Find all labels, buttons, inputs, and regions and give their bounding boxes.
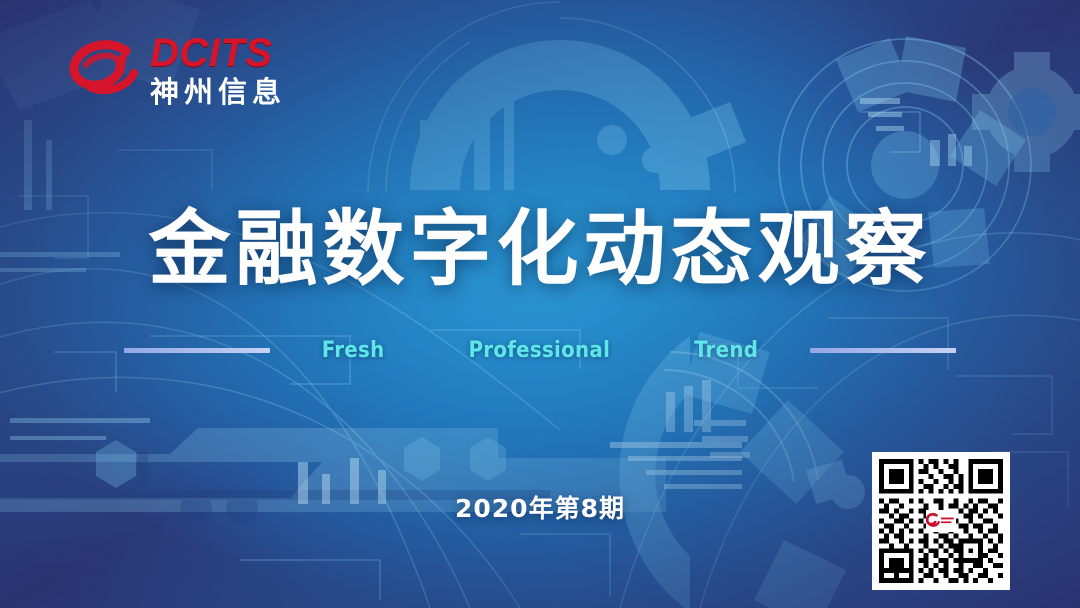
tagline-word-fresh: Fresh (322, 338, 385, 363)
qr-center-logo (926, 510, 956, 532)
dcits-swirl-logo-icon (66, 37, 140, 103)
tagline-row: Fresh Professional Trend (0, 338, 1080, 363)
tagline-words: Fresh Professional Trend (322, 338, 758, 363)
tagline-word-professional: Professional (468, 338, 610, 363)
tagline-rule-right (810, 348, 956, 353)
page-title: 金融数字化动态观察 (0, 182, 1080, 301)
brand-name-en: DCITS (150, 33, 286, 73)
brand-logo: DCITS 神州信息 (66, 33, 286, 107)
tagline-rule-left (124, 348, 270, 353)
tagline-word-trend: Trend (694, 338, 758, 363)
qr-code[interactable] (872, 452, 1010, 590)
brand-name-cn: 神州信息 (150, 78, 286, 107)
poster-cover: DCITS 神州信息 金融数字化动态观察 Fresh Professional … (0, 0, 1080, 608)
